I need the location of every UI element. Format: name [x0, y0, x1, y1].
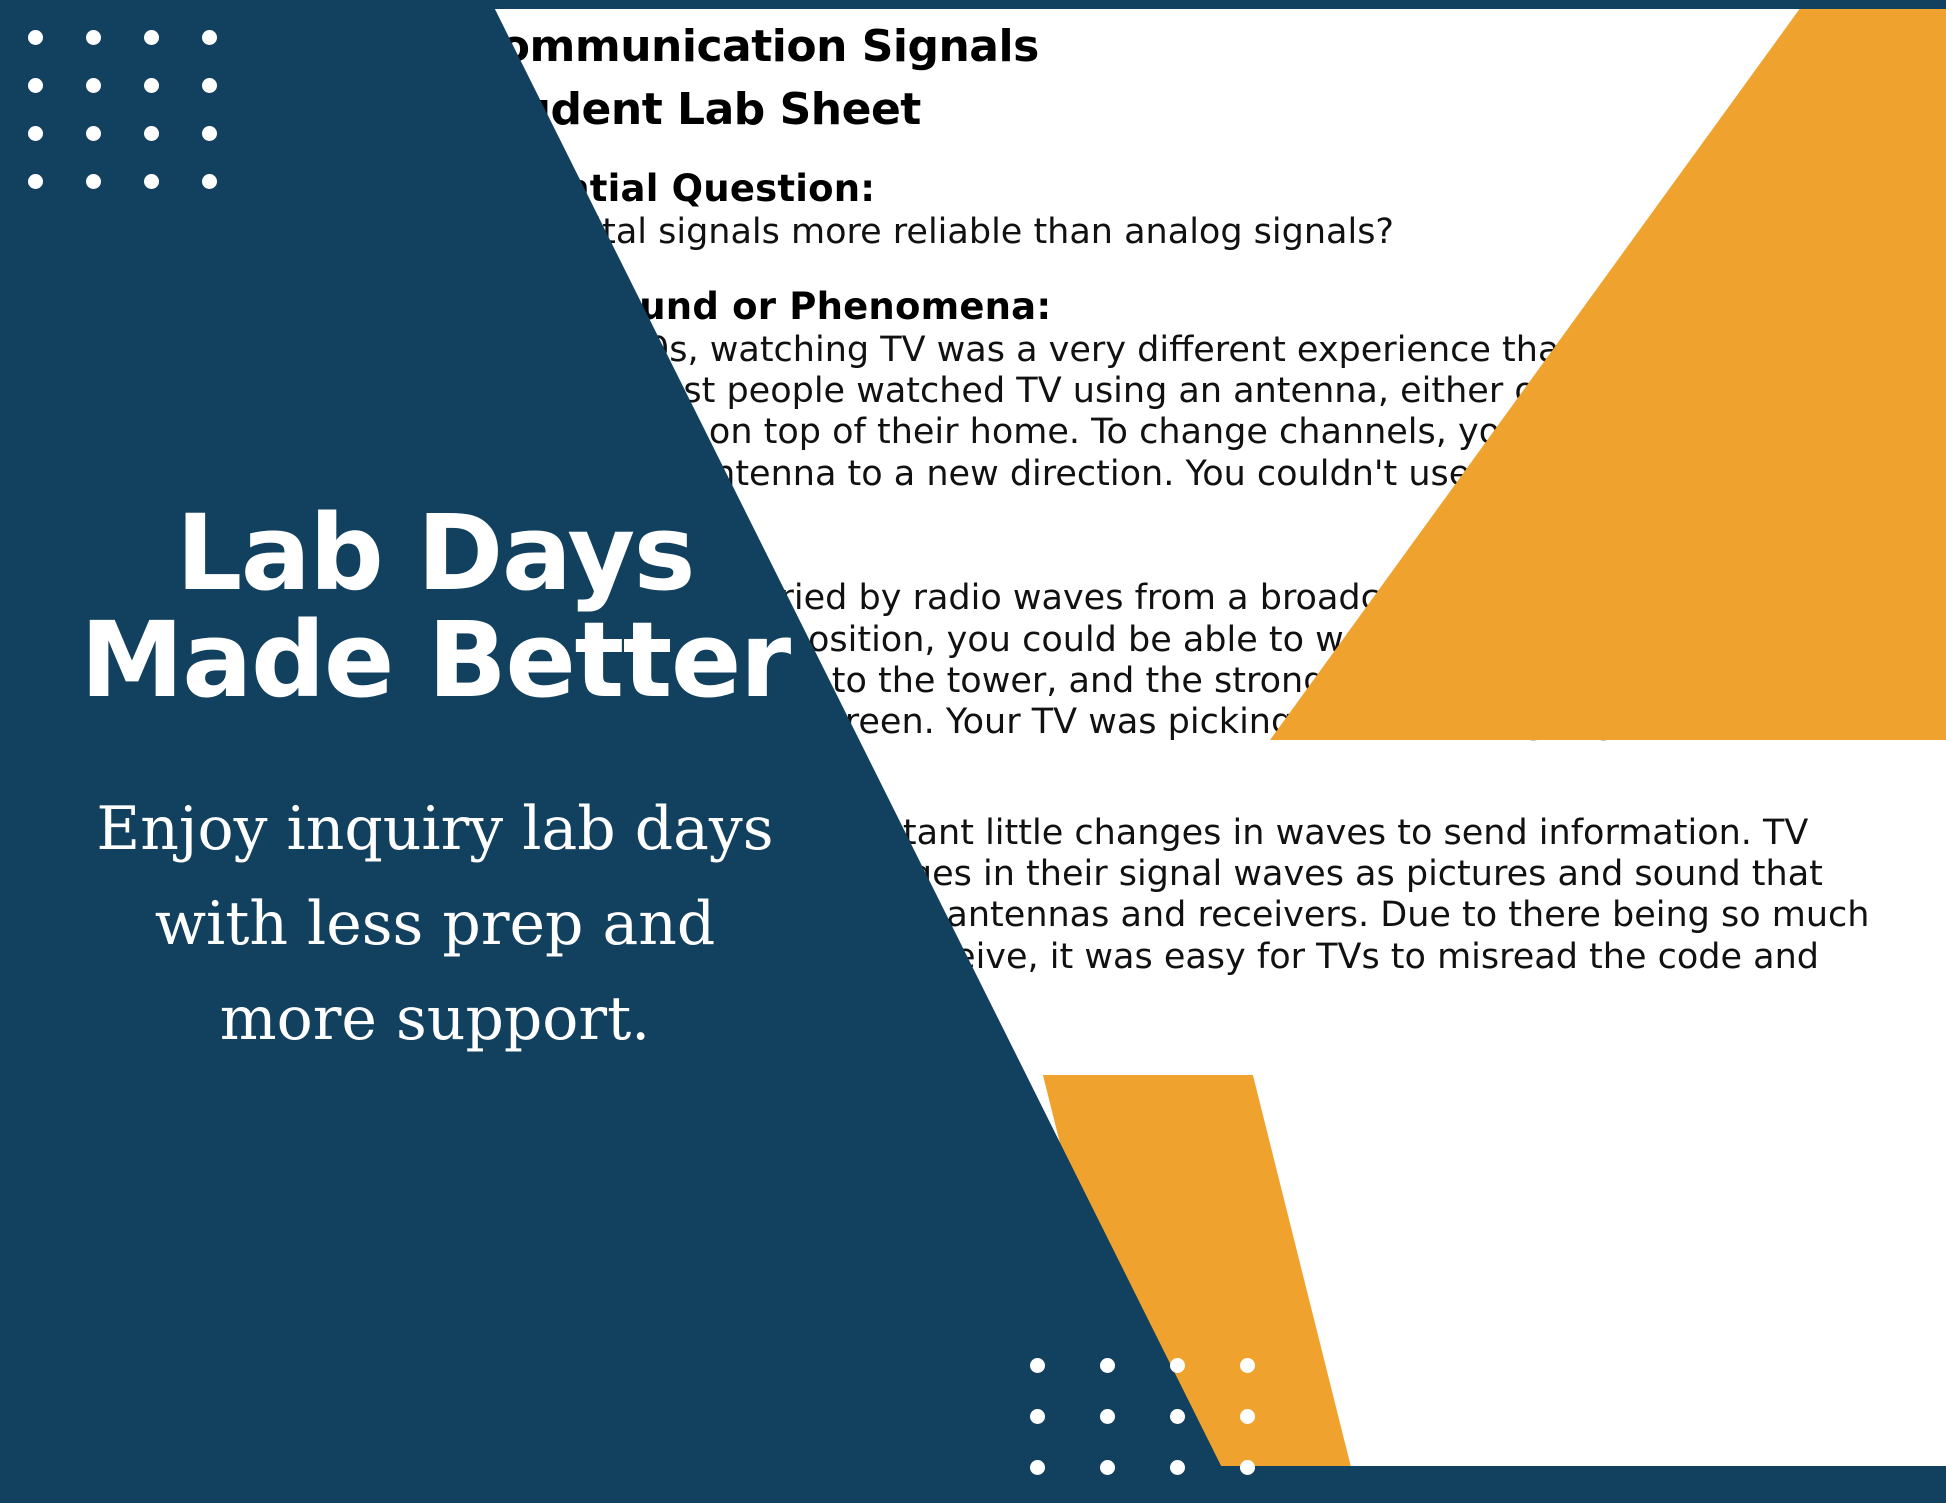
promo-subtitle-line-3: more support.	[56, 972, 814, 1067]
decorative-dot	[202, 174, 217, 189]
promo-subtitle: Enjoy inquiry lab days with less prep an…	[0, 782, 870, 1066]
decorative-dot	[144, 126, 159, 141]
dot-pattern-top-left	[28, 30, 260, 222]
decorative-dot	[1240, 1409, 1255, 1424]
decorative-dot	[1100, 1460, 1115, 1475]
decorative-dot	[202, 78, 217, 93]
decorative-dot	[1240, 1460, 1255, 1475]
decorative-dot	[144, 78, 159, 93]
decorative-dot	[1030, 1460, 1045, 1475]
promo-graphic-canvas: Communication Signals Student Lab Sheet …	[0, 0, 1946, 1503]
decorative-dot	[144, 174, 159, 189]
navy-top-edge-strip	[468, 0, 1946, 9]
decorative-dot	[28, 126, 43, 141]
decorative-dot	[1240, 1358, 1255, 1373]
decorative-dot	[1030, 1358, 1045, 1373]
dot-pattern-bottom-right	[1030, 1358, 1310, 1503]
promo-text-block: Lab Days Made Better Enjoy inquiry lab d…	[0, 500, 870, 1067]
decorative-dot	[86, 126, 101, 141]
decorative-dot	[1170, 1460, 1185, 1475]
decorative-dot	[1100, 1358, 1115, 1373]
decorative-dot	[1030, 1409, 1045, 1424]
doc-title-line-1: Communication Signals	[468, 22, 1888, 71]
decorative-dot	[202, 30, 217, 45]
doc-title-line-2: Student Lab Sheet	[468, 85, 1888, 134]
decorative-dot	[144, 30, 159, 45]
promo-subtitle-line-2: with less prep and	[56, 877, 814, 972]
decorative-dot	[202, 126, 217, 141]
decorative-dot	[28, 78, 43, 93]
decorative-dot	[28, 30, 43, 45]
decorative-dot	[28, 174, 43, 189]
decorative-dot	[1100, 1409, 1115, 1424]
decorative-dot	[86, 78, 101, 93]
decorative-dot	[86, 174, 101, 189]
promo-title-line-2: Made Better	[0, 607, 870, 714]
decorative-dot	[86, 30, 101, 45]
decorative-dot	[1170, 1409, 1185, 1424]
promo-title-line-1: Lab Days	[0, 500, 870, 607]
decorative-dot	[1170, 1358, 1185, 1373]
promo-subtitle-line-1: Enjoy inquiry lab days	[56, 782, 814, 877]
